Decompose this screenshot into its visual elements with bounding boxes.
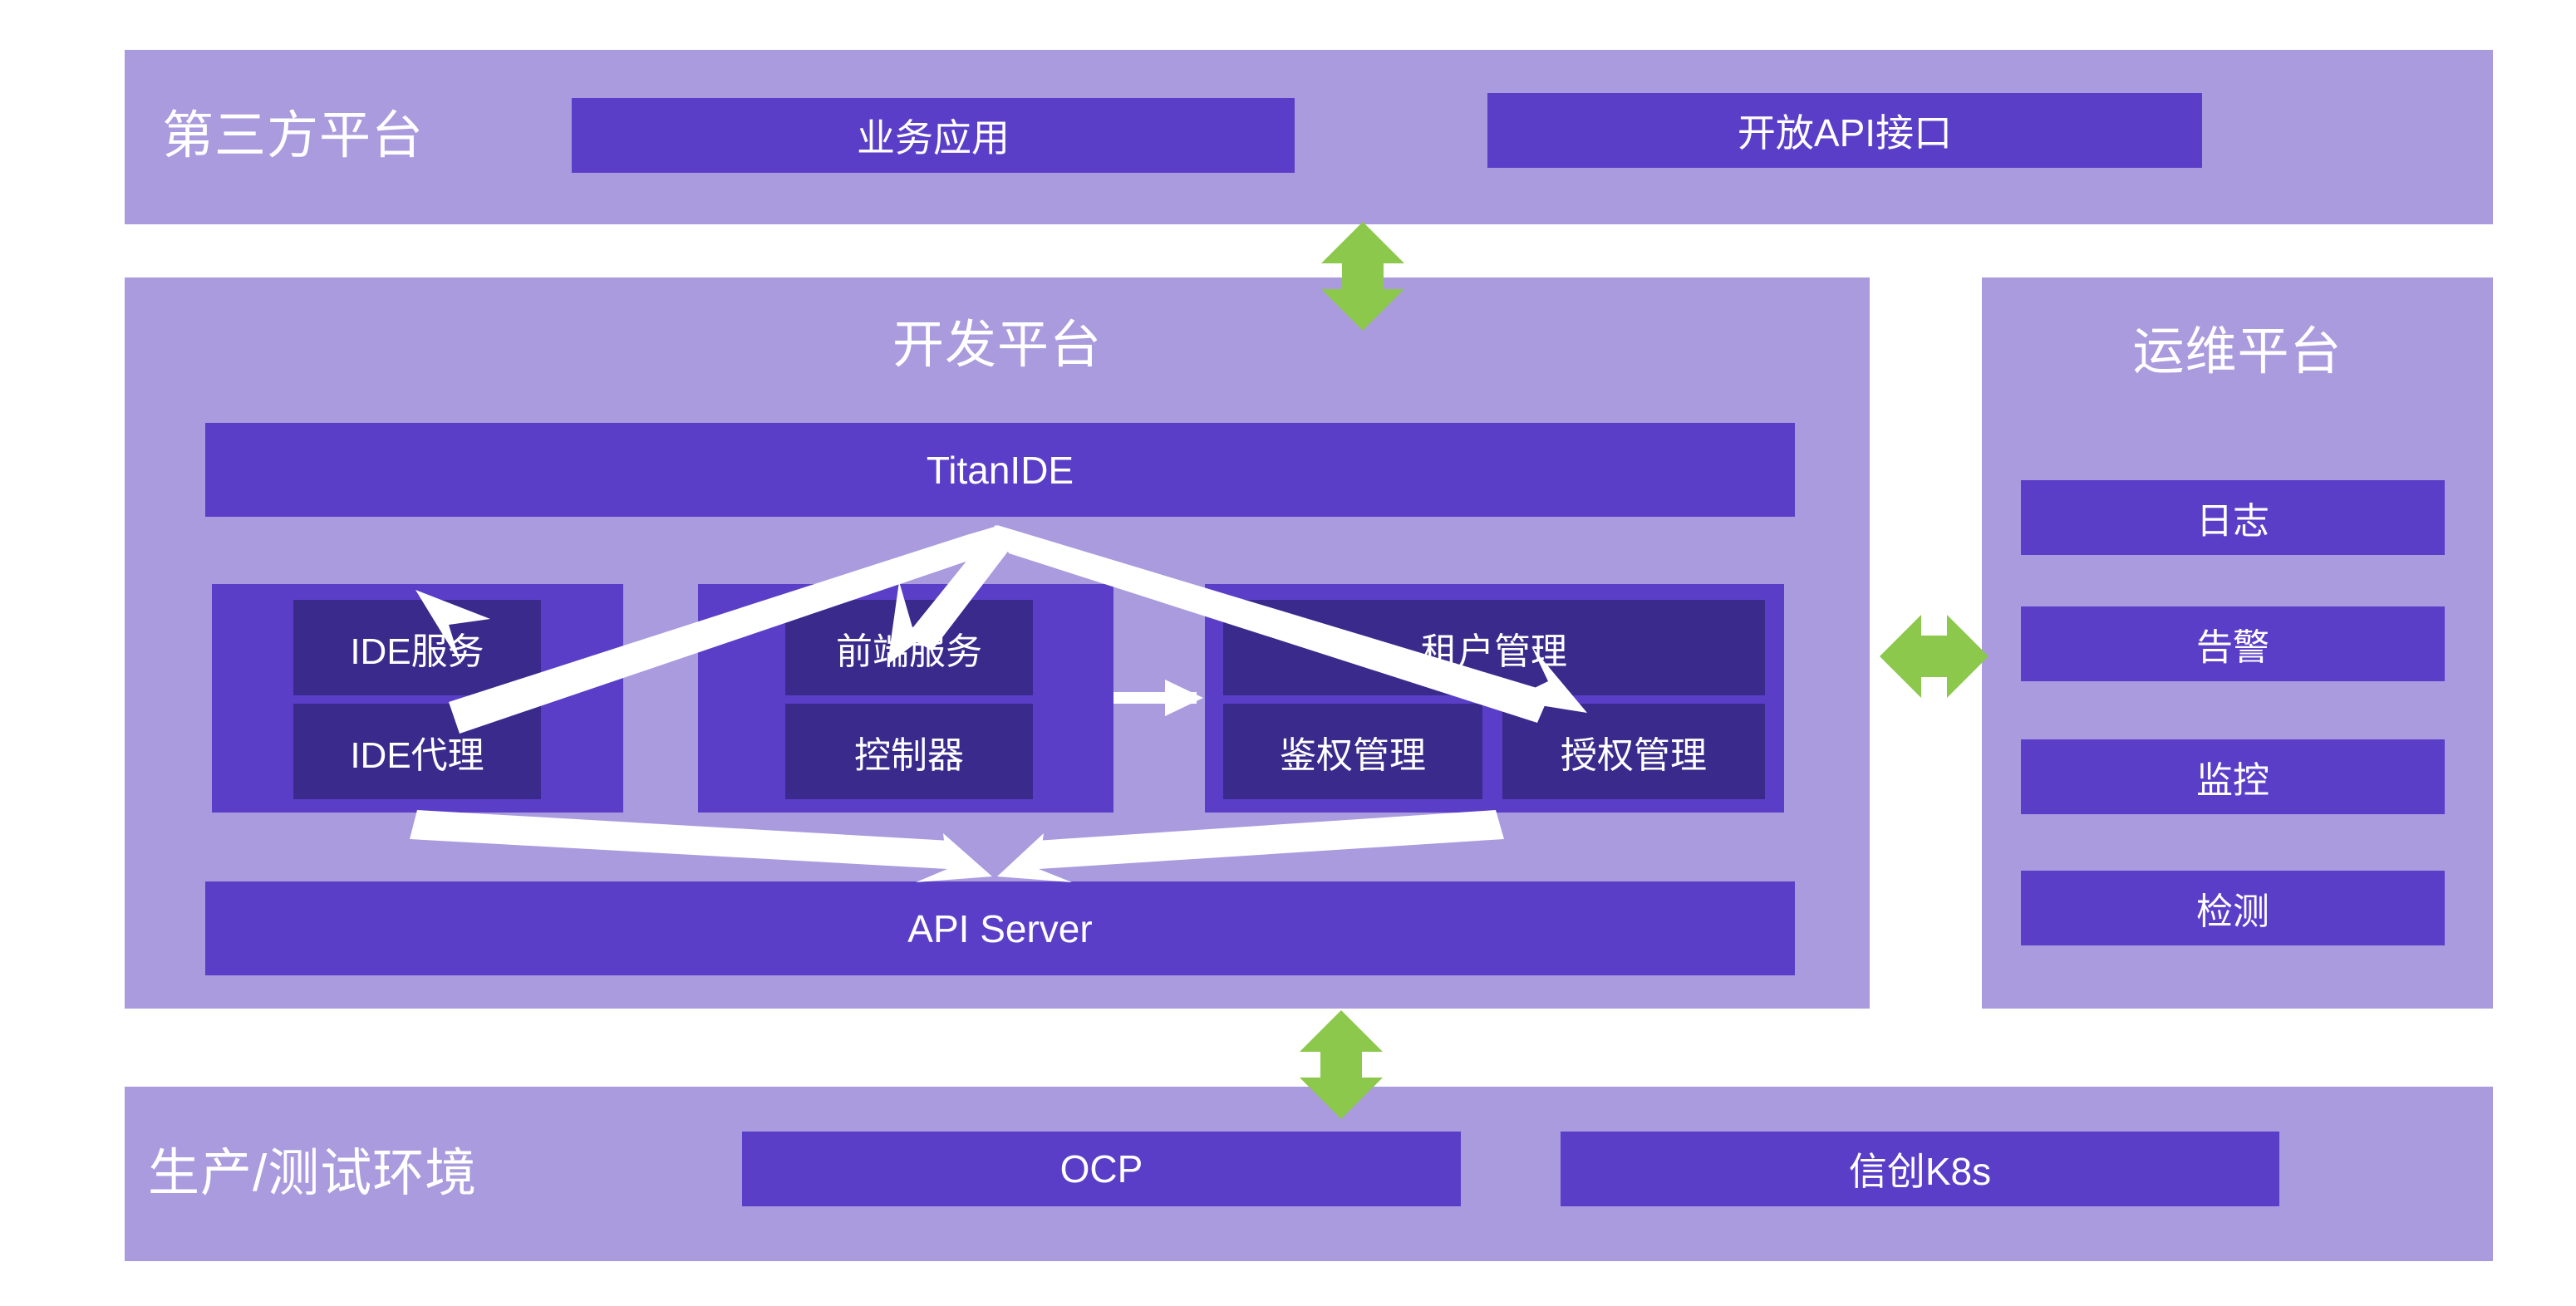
box-xinchuang-k8s[interactable]: 信创K8s <box>1561 1132 2279 1206</box>
dev-platform-title: 开发平台 <box>125 320 1870 371</box>
box-business-application[interactable]: 业务应用 <box>572 98 1295 173</box>
box-detection[interactable]: 检测 <box>2021 871 2445 945</box>
box-ide-service[interactable]: IDE服务 <box>293 600 541 695</box>
box-log[interactable]: 日志 <box>2021 480 2445 555</box>
box-api-server[interactable]: API Server <box>205 881 1795 975</box>
box-titanide[interactable]: TitanIDE <box>205 423 1795 517</box>
box-ocp[interactable]: OCP <box>742 1132 1461 1206</box>
third-party-platform-title: 第三方平台 <box>162 110 424 162</box>
box-open-api[interactable]: 开放API接口 <box>1487 93 2202 168</box>
box-alert[interactable]: 告警 <box>2021 606 2445 681</box>
architecture-diagram: 第三方平台 业务应用 开放API接口 开发平台 TitanIDE IDE服务 I… <box>0 0 2576 1306</box>
box-authorization-management[interactable]: 授权管理 <box>1502 704 1765 799</box>
double-arrow-horizontal-icon-side <box>1880 615 1989 698</box>
box-ide-agent[interactable]: IDE代理 <box>293 704 541 799</box>
box-monitoring[interactable]: 监控 <box>2021 739 2445 814</box>
ops-platform-title: 运维平台 <box>1982 326 2493 378</box>
environment-title: 生产/测试环境 <box>148 1148 477 1200</box>
box-authentication-management[interactable]: 鉴权管理 <box>1223 704 1482 799</box>
box-controller[interactable]: 控制器 <box>785 704 1033 799</box>
box-tenant-management[interactable]: 租户管理 <box>1223 600 1765 695</box>
box-frontend-service[interactable]: 前端服务 <box>785 600 1033 695</box>
